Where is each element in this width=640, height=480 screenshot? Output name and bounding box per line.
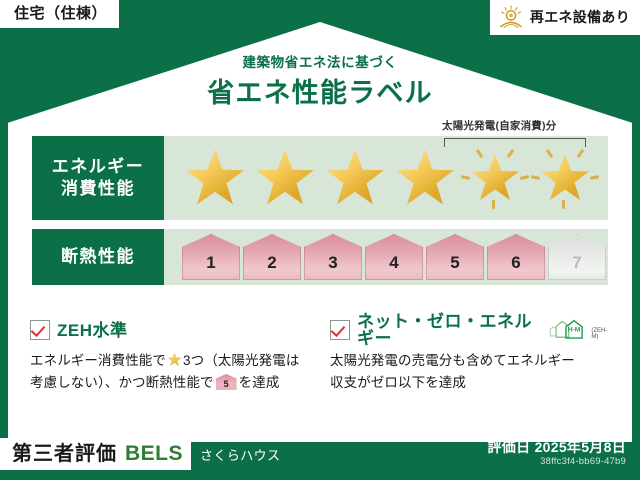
insulation-label: 断熱性能 [61,246,135,268]
renewable-badge-label: 再エネ設備あり [530,10,630,24]
solar-portion-caption: 太陽光発電(自家消費)分 [442,118,556,133]
level-number: 5 [450,254,459,280]
star-icon [470,153,520,203]
star-item-solar [462,145,528,211]
bels-jp-label: 第三者評価 [12,443,117,465]
level-number: 4 [389,254,398,280]
star-item [322,145,388,211]
title-subtitle: 建築物省エネ法に基づく [0,56,640,70]
criterion-zeh: ZEH水準 エネルギー消費性能で3つ（太陽光発電は考慮しない）、かつ断熱性能で5… [30,318,312,394]
level-number: 7 [572,254,581,280]
star-icon [395,148,455,208]
zeh-text-part1: エネルギー消費性能で [30,353,166,368]
zeh-m-house-icon: H-M [548,317,589,343]
metrics-section: エネルギー 消費性能 [32,136,608,294]
star-item [392,145,458,211]
dwelling-type-tag: 住宅（住棟） [0,0,119,28]
label-footer: 第三者評価 BELS さくらハウス 評価日 2025年5月8日 38ffc3f4… [0,428,640,480]
zeh-text-part2: 3つ（太陽光発電 [183,353,286,368]
insulation-levels-area: 1 2 3 4 5 6 7 [164,229,608,285]
energy-label-line1: エネルギー [52,156,145,178]
star-icon [540,153,590,203]
level-number: 1 [206,254,215,280]
insulation-level-chip: 1 [182,234,240,280]
insulation-level-chip: 3 [304,234,362,280]
star-icon [255,148,315,208]
criterion-net-zero-header: ネット・ゼロ・エネルギー H-M (ZEH-M) [330,318,612,342]
net-zero-text-line1: 太陽光発電の売電分も含めてエネルギー [330,350,612,372]
criterion-zeh-text: エネルギー消費性能で3つ（太陽光発電は考慮しない）、かつ断熱性能で5を達成 [30,350,312,394]
evaluation-info: 評価日 2025年5月8日 38ffc3f4-bb69-47b9 [487,439,626,468]
insulation-level-chip: 4 [365,234,423,280]
insulation-level-chip: 5 [426,234,484,280]
star-icon [167,352,182,367]
evaluation-date: 評価日 2025年5月8日 [487,439,626,456]
insulation-performance-row: 断熱性能 1 2 3 4 5 6 7 [32,229,608,285]
insulation-level-chip: 6 [487,234,545,280]
label-title: 建築物省エネ法に基づく 省エネ性能ラベル [0,56,640,107]
bels-certification: 第三者評価 BELS さくらハウス [0,438,280,470]
level-number: 3 [328,254,337,280]
zeh-m-logo: H-M (ZEH-M) [548,317,612,343]
energy-performance-label-box: エネルギー 消費性能 [32,136,164,220]
star-icon [325,148,385,208]
renewable-equipment-badge: 再エネ設備あり [490,0,640,35]
star-icon [185,148,245,208]
star-item [182,145,248,211]
insulation-level-icon: 5 [216,374,237,390]
star-item [252,145,318,211]
energy-performance-row: エネルギー 消費性能 [32,136,608,220]
evaluation-id: 38ffc3f4-bb69-47b9 [487,456,626,468]
net-zero-text-line2: 収支がゼロ以下を達成 [330,372,612,394]
criterion-zeh-header: ZEH水準 [30,318,312,342]
solar-sun-icon [498,5,524,29]
zeh-text-part4: を達成 [239,375,280,390]
insulation-level-chip: 7 [548,234,606,280]
check-icon [330,320,350,340]
level-number: 5 [216,380,237,389]
solar-portion-bracket [444,138,586,147]
energy-label-line2: 消費性能 [61,178,135,200]
zeh-logo-caption: (ZEH-M) [591,328,612,343]
criterion-net-zero: ネット・ゼロ・エネルギー H-M (ZEH-M) 太陽光発電の売電分も含めてエネ… [330,318,612,394]
star-rating [164,145,598,211]
bels-en-label: BELS [125,442,183,465]
check-icon [30,320,50,340]
level-number: 2 [267,254,276,280]
criteria-section: ZEH水準 エネルギー消費性能で3つ（太陽光発電は考慮しない）、かつ断熱性能で5… [30,318,612,394]
title-heading: 省エネ性能ラベル [0,80,640,107]
energy-performance-label: 住宅（住棟） 再エネ設備あり 建築物省エネ法に基づく 省エネ性能ラベル エネルギ… [0,0,640,480]
zeh-logo-label: H-M [568,326,581,333]
star-item-solar [532,145,598,211]
builder-name: さくらハウス [200,449,280,463]
level-number: 6 [511,254,520,280]
criterion-net-zero-title: ネット・ゼロ・エネルギー [357,313,538,347]
bels-badge: 第三者評価 BELS [0,438,191,470]
criterion-net-zero-text: 太陽光発電の売電分も含めてエネルギー 収支がゼロ以下を達成 [330,350,612,394]
energy-stars-area: 太陽光発電(自家消費)分 [164,136,608,220]
insulation-performance-label-box: 断熱性能 [32,229,164,285]
criterion-zeh-title: ZEH水準 [57,322,128,339]
insulation-level-scale: 1 2 3 4 5 6 7 [164,234,606,280]
insulation-level-chip: 2 [243,234,301,280]
